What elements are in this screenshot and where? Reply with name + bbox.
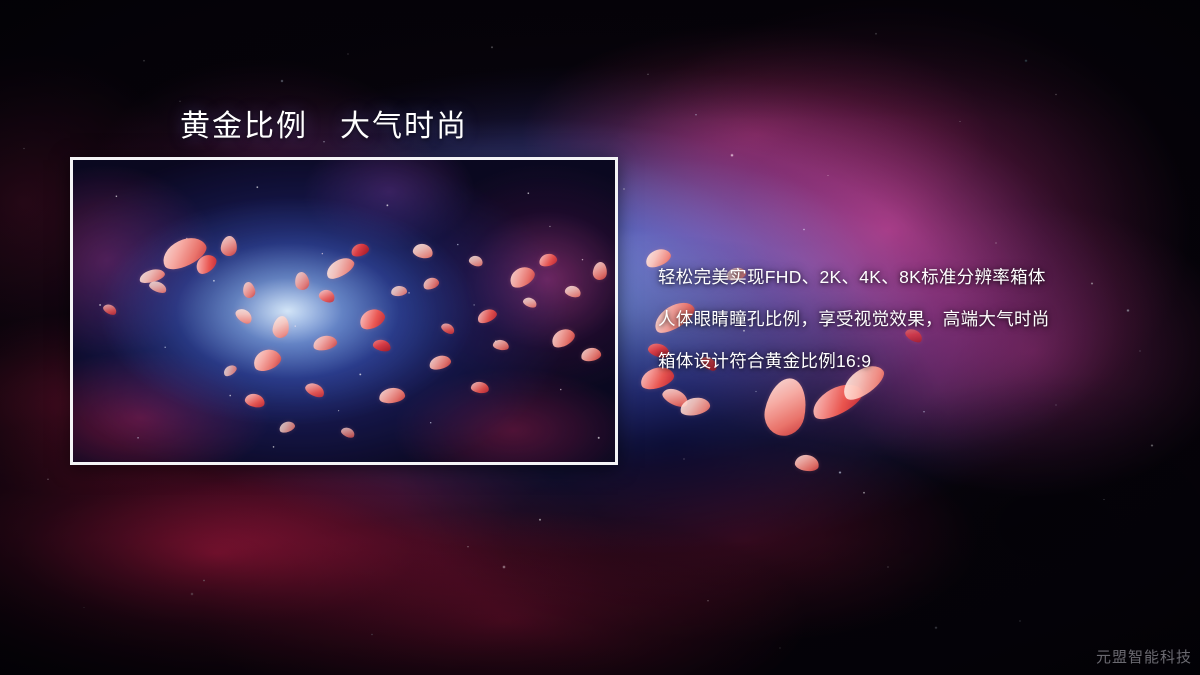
photo-starfield bbox=[73, 160, 615, 462]
framed-photo[interactable] bbox=[70, 157, 618, 465]
body-text-block: 轻松完美实现FHD、2K、4K、8K标准分辨率箱体 人体眼睛瞳孔比例，享受视觉效… bbox=[658, 256, 1050, 382]
body-line-2: 人体眼睛瞳孔比例，享受视觉效果，高端大气时尚 bbox=[658, 298, 1050, 340]
body-line-1: 轻松完美实现FHD、2K、4K、8K标准分辨率箱体 bbox=[658, 256, 1050, 298]
presentation-slide: 黄金比例 大气时尚 轻松完美实现FHD、2K、4K、8K标准分辨率箱体 人体眼睛… bbox=[0, 0, 1200, 675]
body-line-3: 箱体设计符合黄金比例16:9 bbox=[658, 340, 1050, 382]
photo-inner bbox=[73, 160, 615, 462]
slide-title: 黄金比例 大气时尚 bbox=[180, 101, 468, 145]
watermark: 元盟智能科技 bbox=[1096, 646, 1192, 667]
